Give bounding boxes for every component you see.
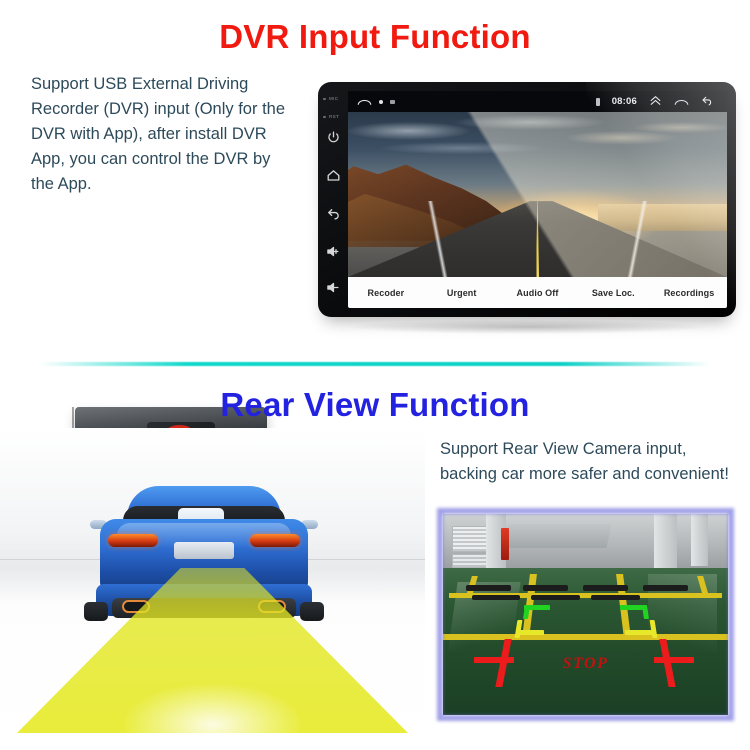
power-icon[interactable] bbox=[326, 130, 341, 145]
dvr-camera-device bbox=[0, 196, 300, 336]
head-unit-shadow bbox=[348, 320, 708, 334]
camera-field-of-view-cone bbox=[0, 568, 425, 733]
dot-indicator-icon bbox=[379, 100, 383, 104]
wheel-stopper-5 bbox=[472, 595, 520, 600]
taillight-left bbox=[108, 534, 158, 547]
taillight-right bbox=[250, 534, 300, 547]
wheel-right bbox=[300, 602, 324, 621]
garage-duct bbox=[503, 524, 611, 548]
volume-up-icon[interactable] bbox=[326, 244, 341, 259]
wheel-stopper-4 bbox=[643, 585, 689, 590]
rear-camera-parking-view: STOP bbox=[443, 514, 728, 715]
product-feature-page: DVR Input Function Support USB External … bbox=[0, 0, 750, 750]
fire-extinguisher bbox=[501, 528, 508, 560]
toolbar-button-audio-off[interactable]: Audio Off bbox=[500, 288, 576, 298]
head-unit-screen[interactable]: 08:06 bbox=[348, 91, 727, 308]
stop-overlay-text: STOP bbox=[443, 655, 728, 673]
wheel-stopper-3 bbox=[583, 585, 629, 590]
back-icon[interactable] bbox=[326, 206, 341, 221]
chevron-up-icon[interactable] bbox=[649, 93, 662, 111]
garage-pillar-2 bbox=[654, 514, 677, 574]
mic-label-row: MIC bbox=[323, 96, 338, 101]
rear-view-description-text: Support Rear View Camera input, backing … bbox=[440, 437, 740, 487]
toolbar-button-save-loc[interactable]: Save Loc. bbox=[575, 288, 651, 298]
head-unit-side-controls: MIC RST bbox=[318, 82, 348, 317]
guide-line-yellow-left-tick bbox=[516, 630, 545, 635]
status-bar-right: 08:06 bbox=[596, 93, 727, 111]
guide-line-green-right-tick bbox=[620, 605, 646, 610]
dvr-app-toolbar: Recoder Urgent Audio Off Save Loc. Recor… bbox=[348, 277, 727, 308]
dvr-description-text: Support USB External Driving Recorder (D… bbox=[31, 72, 293, 197]
status-bar-left bbox=[348, 93, 395, 111]
dvr-section: DVR Input Function Support USB External … bbox=[0, 0, 750, 360]
home-icon[interactable] bbox=[674, 93, 689, 111]
wheel-stopper-7 bbox=[591, 595, 639, 600]
android-status-bar: 08:06 bbox=[348, 91, 727, 112]
toolbar-button-recoder[interactable]: Recoder bbox=[348, 288, 424, 298]
rst-label-row: RST bbox=[323, 114, 339, 119]
dashcam-road-image bbox=[348, 112, 727, 277]
square-indicator-icon bbox=[390, 100, 395, 104]
section-divider bbox=[40, 362, 710, 366]
home-icon[interactable] bbox=[357, 93, 372, 111]
guide-line-green-left-tick bbox=[524, 605, 550, 610]
screen-glare-overlay bbox=[348, 112, 727, 277]
license-plate bbox=[174, 542, 234, 559]
lot-marking-horizontal-2 bbox=[443, 634, 728, 640]
toolbar-button-recordings[interactable]: Recordings bbox=[651, 288, 727, 298]
car-head-unit: MIC RST bbox=[318, 82, 736, 317]
wheel-stopper-6 bbox=[531, 595, 579, 600]
garage-pillar-3 bbox=[691, 514, 708, 566]
dvr-section-title: DVR Input Function bbox=[0, 18, 750, 56]
battery-icon bbox=[596, 98, 600, 106]
rst-label: RST bbox=[329, 114, 339, 119]
back-icon[interactable] bbox=[701, 93, 715, 111]
mic-dot-icon bbox=[323, 98, 326, 101]
wheel-stopper-2 bbox=[523, 585, 569, 590]
toolbar-button-urgent[interactable]: Urgent bbox=[424, 288, 500, 298]
volume-down-icon[interactable] bbox=[326, 280, 341, 295]
wheel-left bbox=[84, 602, 108, 621]
car-camera-coverage-illustration bbox=[0, 428, 425, 733]
home-icon[interactable] bbox=[326, 168, 341, 183]
rear-view-section-title: Rear View Function bbox=[0, 386, 750, 424]
mic-label: MIC bbox=[329, 96, 338, 101]
wheel-stopper-1 bbox=[466, 585, 512, 590]
rst-dot-icon bbox=[323, 116, 326, 119]
guide-line-yellow-right-tick bbox=[625, 630, 654, 635]
status-clock: 08:06 bbox=[612, 96, 637, 107]
